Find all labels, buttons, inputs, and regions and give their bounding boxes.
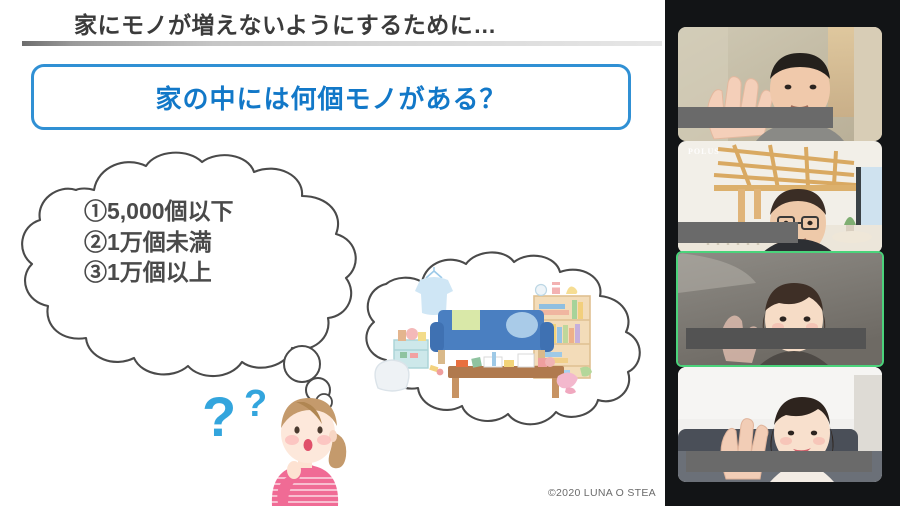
svg-text:?: ? [202, 385, 236, 448]
participant-4-name-redacted [686, 451, 872, 472]
page-title: 家にモノが増えないようにするために… [74, 6, 497, 40]
video-tile-participant-3-active-speaker[interactable] [678, 253, 882, 365]
participant-1-name-redacted [678, 107, 833, 128]
screen-root: 家にモノが増えないようにするために… 家の中には何個モノがある？ ①5,000個… [0, 0, 900, 506]
video-tile-participant-4[interactable] [678, 367, 882, 482]
beanbag-icon [375, 360, 409, 391]
options-thought-bubble: ①5,000個以下 ②1万個未満 ③1万個以上 [6, 148, 366, 398]
title-divider [22, 41, 662, 46]
messy-room-illustration [352, 248, 652, 428]
list-item: ②1万個未満 [84, 227, 334, 258]
options-list: ①5,000個以下 ②1万個未満 ③1万個以上 [84, 196, 334, 288]
room-thought-bubble [352, 248, 652, 428]
woman-figure: ? ? [200, 378, 360, 506]
list-item: ③1万個以上 [84, 257, 334, 288]
participant-3-name-redacted [686, 328, 866, 349]
list-item: ①5,000個以下 [84, 196, 334, 227]
video-tile-participant-1[interactable] [678, 27, 882, 141]
presentation-slide: 家にモノが増えないようにするために… 家の中には何個モノがある？ ①5,000個… [0, 0, 665, 506]
hanging-shirt-icon [415, 267, 453, 315]
question-banner: 家の中には何個モノがある？ [31, 64, 631, 130]
svg-text:?: ? [244, 383, 267, 425]
coffee-table-icon [448, 352, 564, 398]
video-tile-participant-2[interactable]: POLUS POLUS [678, 141, 882, 253]
question-mark-icon: ? [202, 385, 236, 448]
copyright-notice: ©2020 LUNA O STEA [548, 487, 656, 499]
question-text: 家の中には何個モノがある？ [155, 79, 506, 116]
participant-2-name-redacted [678, 222, 798, 243]
question-mark-small-icon: ? [244, 383, 267, 425]
video-participants-panel: POLUS POLUS [665, 0, 900, 506]
polus-watermark-label: POLUS [688, 147, 720, 156]
thinking-woman-illustration: ? ? [200, 378, 360, 506]
